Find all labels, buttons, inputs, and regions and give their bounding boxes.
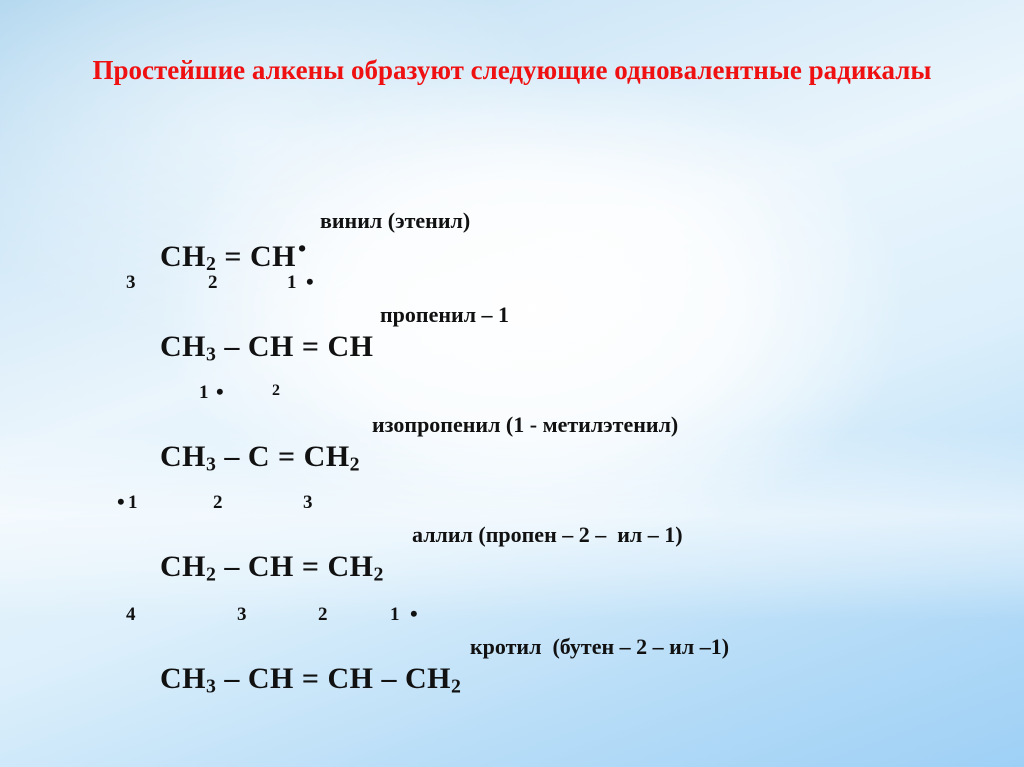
radical-name-allyl: аллил (пропен – 2 – ил – 1): [412, 522, 683, 548]
formula-segment: = CH: [216, 240, 296, 273]
radical-name-vinyl: винил (этенил): [320, 208, 470, 234]
carbon-numbering-allyl: • 1 2 3: [0, 492, 29, 518]
radical-dot-icon: •: [296, 236, 307, 262]
carbon-number: 3: [126, 272, 136, 294]
carbon-number: 2: [272, 382, 280, 400]
radical-dot-icon: •: [306, 272, 314, 291]
radical-name-isopropenyl: изопропенил (1 - метилэтенил): [372, 412, 678, 438]
carbon-numbering-isopropenyl: 1 • 2: [0, 382, 29, 408]
radical-dot-icon: •: [117, 492, 125, 511]
formula-segment: – C = CH: [216, 440, 349, 473]
radical-name-crotyl: кротил (бутен – 2 – ил –1): [470, 634, 729, 660]
formula-segment: CH: [160, 440, 206, 473]
carbon-number: 4: [126, 604, 136, 626]
chemical-formula-allyl: CH2 – CH = CH2: [112, 516, 384, 620]
formula-segment: – CH = CH – CH: [216, 662, 451, 695]
carbon-number: 1: [287, 272, 297, 294]
formula-subscript: 3: [206, 453, 216, 475]
carbon-number: 3: [237, 604, 247, 626]
carbon-number: 2: [213, 492, 223, 514]
carbon-number: 1: [128, 492, 138, 514]
formula-segment: CH: [160, 240, 206, 273]
carbon-number: 1: [199, 382, 209, 404]
formula-subscript: 2: [374, 563, 384, 585]
radical-dot-icon: •: [216, 382, 224, 401]
formula-segment: CH: [160, 550, 206, 583]
carbon-number: 2: [208, 272, 218, 294]
formula-subscript: 2: [451, 675, 461, 697]
formula-subscript: 3: [206, 343, 216, 365]
carbon-number: 1: [390, 604, 400, 626]
formula-subscript: 2: [350, 453, 360, 475]
carbon-number: 3: [303, 492, 313, 514]
chemical-formula-isopropenyl: CH3 – C = CH2: [112, 406, 360, 510]
radical-dot-icon: •: [410, 604, 418, 623]
formula-segment: CH: [160, 330, 206, 363]
carbon-number: 2: [318, 604, 328, 626]
slide-title: Простейшие алкены образуют следующие одн…: [62, 52, 962, 89]
chemical-formula-crotyl: CH3 – CH = CH – CH2: [112, 628, 461, 732]
carbon-numbering-propenyl: 3 2 1 •: [0, 272, 29, 298]
radical-name-propenyl: пропенил – 1: [380, 302, 509, 328]
formula-segment: – CH = CH: [216, 330, 373, 363]
chemical-formula-propenyl: CH3 – CH = CH: [112, 296, 374, 400]
slide-canvas: Простейшие алкены образуют следующие одн…: [0, 0, 1024, 767]
formula-segment: – CH = CH: [216, 550, 373, 583]
formula-subscript: 2: [206, 563, 216, 585]
carbon-numbering-crotyl: 4 3 2 1 •: [0, 604, 29, 630]
formula-segment: CH: [160, 662, 206, 695]
formula-subscript: 3: [206, 675, 216, 697]
